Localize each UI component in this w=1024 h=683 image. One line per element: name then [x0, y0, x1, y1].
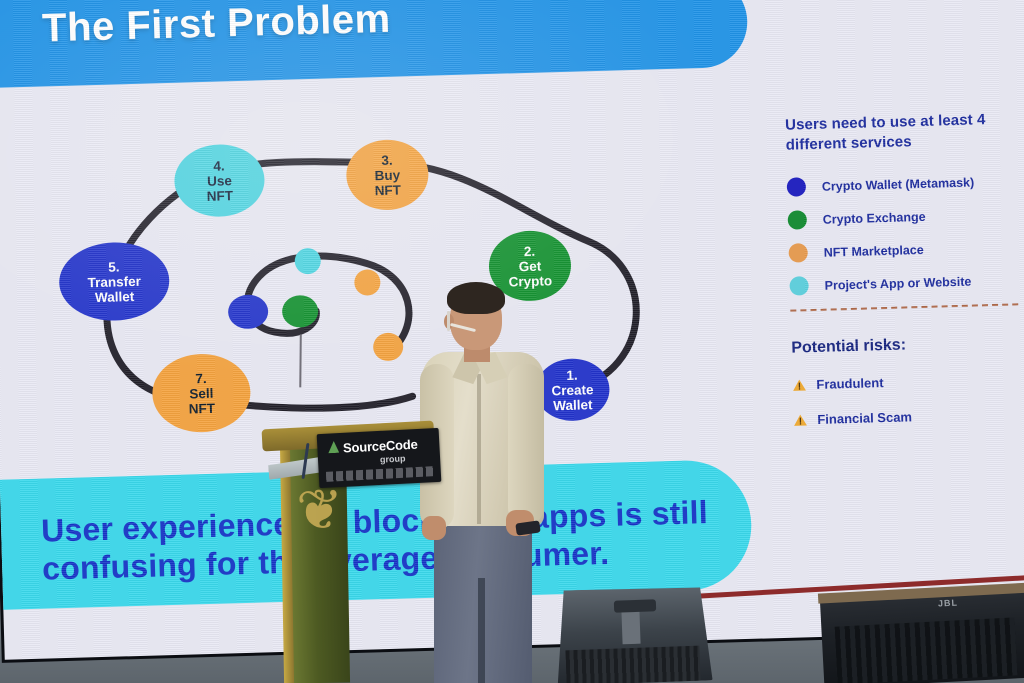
legend-label: Crypto Wallet (Metamask) — [822, 175, 975, 193]
legend-label: NFT Marketplace — [824, 242, 924, 259]
warning-triangle-icon — [792, 378, 806, 392]
risk-label: Fraudulent — [816, 375, 884, 392]
sourcecode-mark-icon — [328, 441, 340, 454]
legend-dot-nft-marketplace — [788, 243, 808, 263]
risk-label: Financial Scam — [817, 409, 912, 427]
headset-mic-boom — [447, 311, 450, 331]
legend-item: Crypto Wallet (Metamask) — [787, 171, 1024, 197]
legend-dot-crypto-wallet — [787, 177, 807, 197]
info-panel: Users need to use at least 4 different s… — [785, 109, 1024, 428]
stage-monitor-left-grille — [565, 646, 700, 683]
legend-label: Crypto Exchange — [823, 209, 926, 226]
podium: ❦ SourceCode group — [262, 425, 442, 683]
legend-item: NFT Marketplace — [788, 237, 1024, 263]
stage-monitor-left-stand — [621, 610, 640, 645]
panel-divider — [790, 303, 1018, 311]
speaker-arm-right — [508, 364, 544, 524]
legend-item: Crypto Exchange — [788, 204, 1024, 230]
user-journey-diagram: 1. Create Wallet 2. Get Crypto 3. Buy NF… — [45, 119, 674, 476]
panel-heading: Users need to use at least 4 different s… — [785, 109, 1024, 156]
warning-triangle-icon — [793, 413, 807, 427]
speaker-shirt-placket — [477, 374, 481, 524]
risks-heading: Potential risks: — [791, 333, 1024, 358]
speaker-leg-gap — [478, 578, 485, 683]
presentation-clicker — [515, 520, 540, 535]
risk-item: Fraudulent — [792, 371, 1024, 393]
legend-label: Project's App or Website — [824, 274, 971, 292]
legend-dot-project-app — [789, 276, 809, 296]
stage-monitor-right-grille — [835, 617, 1018, 683]
services-legend: Crypto Wallet (Metamask) Crypto Exchange… — [787, 171, 1024, 296]
stage-monitor-left-plate — [614, 599, 656, 612]
sourcecode-brand-sub: group — [380, 453, 406, 464]
podium-ornament-icon: ❦ — [296, 485, 344, 537]
legend-item: Project's App or Website — [789, 270, 1024, 296]
monitor-brand-logo: JBL — [938, 597, 959, 608]
risk-item: Financial Scam — [793, 406, 1024, 428]
screenshot-root: The First Problem User experience for bl… — [0, 0, 1024, 683]
speaker-hair — [447, 282, 505, 314]
legend-dot-crypto-exchange — [788, 210, 808, 230]
